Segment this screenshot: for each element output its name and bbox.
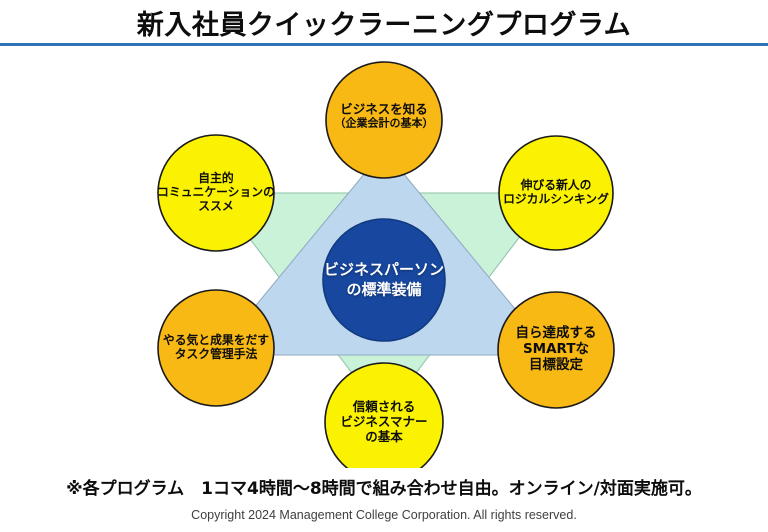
node-circle-upper-left[interactable]	[158, 135, 274, 251]
node-circle-lower-left[interactable]	[158, 290, 274, 406]
center-hub-circle[interactable]	[323, 219, 445, 341]
slide-canvas: 新入社員クイックラーニングプログラム ビジネスを知る （企業会計の基本） 伸びる…	[0, 0, 768, 532]
page-title: 新入社員クイックラーニングプログラム	[137, 12, 631, 39]
node-circle-bottom[interactable]	[325, 363, 443, 468]
copyright-text: Copyright 2024 Management College Corpor…	[0, 508, 768, 522]
title-divider	[0, 43, 768, 46]
node-circle-lower-right[interactable]	[498, 292, 614, 408]
program-diagram: ビジネスを知る （企業会計の基本） 伸びる新人の ロジカルシンキング 自ら達成す…	[0, 48, 768, 468]
title-bar: 新入社員クイックラーニングプログラム	[0, 8, 768, 42]
node-circle-upper-right[interactable]	[499, 136, 613, 250]
diagram-svg	[0, 48, 768, 468]
node-circle-top[interactable]	[326, 62, 442, 178]
program-note: ※各プログラム 1コマ4時間～8時間で組み合わせ自由。オンライン/対面実施可。	[0, 474, 768, 499]
